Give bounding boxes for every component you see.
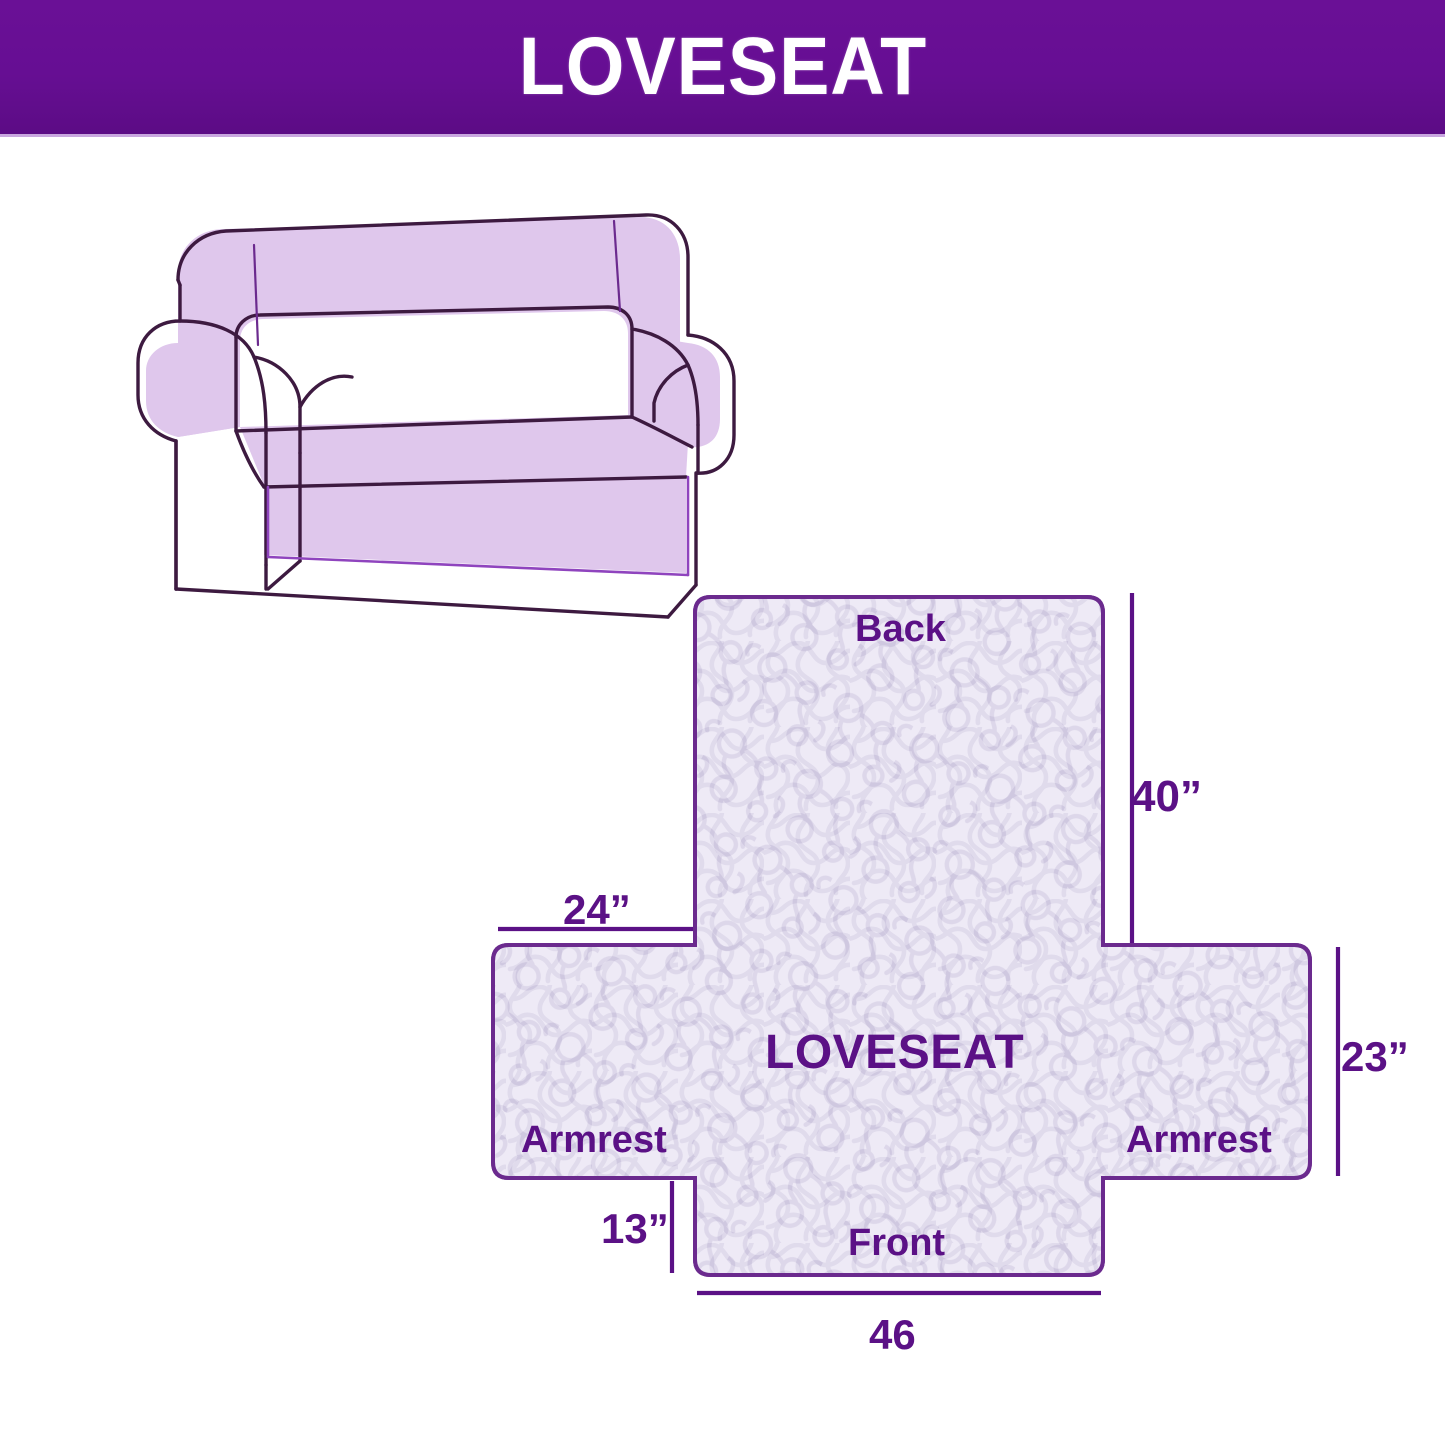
panel-label-front: Front xyxy=(848,1224,945,1262)
dimension-armrest-width: 24” xyxy=(563,889,631,931)
slipcover-pattern-diagram xyxy=(420,555,1445,1415)
dimension-front-width: 46 xyxy=(869,1314,916,1356)
page-title: LOVESEAT xyxy=(518,26,926,108)
dimension-armrest-height: 23” xyxy=(1341,1036,1409,1078)
panel-label-armrest-left: Armrest xyxy=(521,1121,667,1159)
dimension-front-height: 13” xyxy=(601,1208,669,1250)
header-banner: LOVESEAT xyxy=(0,0,1445,134)
dimension-back-height: 40” xyxy=(1131,775,1202,819)
panel-label-armrest-right: Armrest xyxy=(1126,1121,1272,1159)
panel-label-center: LOVESEAT xyxy=(765,1029,1024,1077)
loveseat-size-chart-page: LOVESEAT xyxy=(0,0,1445,1445)
header-accent-divider xyxy=(0,134,1445,137)
panel-label-back: Back xyxy=(855,610,946,648)
